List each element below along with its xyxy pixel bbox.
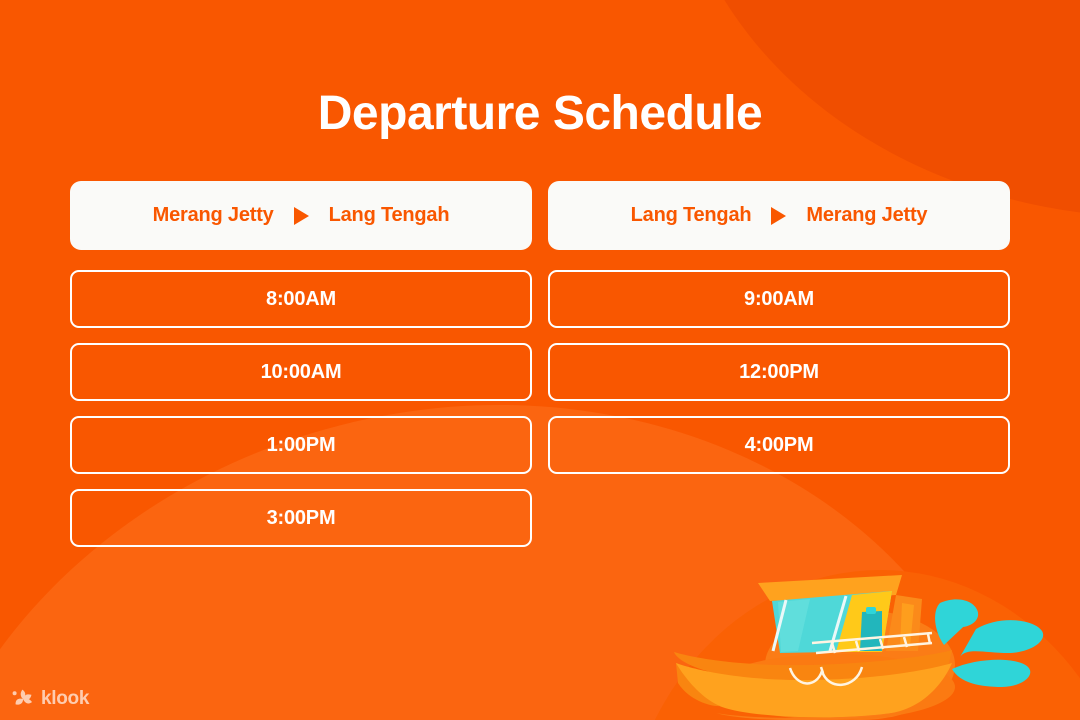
speedboat-illustration	[660, 555, 960, 720]
water-splash-icon	[930, 595, 1050, 700]
time-slot[interactable]: 4:00PM	[548, 416, 1010, 474]
time-slot[interactable]: 9:00AM	[548, 270, 1010, 328]
time-slot[interactable]: 10:00AM	[70, 343, 532, 401]
schedule-banner: Departure Schedule Merang Jetty Lang Ten…	[0, 0, 1080, 720]
schedule-column-outbound: Merang Jetty Lang Tengah 8:00AM 10:00AM …	[70, 181, 532, 547]
route-destination-label: Lang Tengah	[329, 204, 450, 227]
page-title: Departure Schedule	[0, 88, 1080, 141]
klook-logo: klook	[12, 688, 89, 710]
time-slot[interactable]: 3:00PM	[70, 489, 532, 547]
play-triangle-icon	[294, 207, 309, 225]
route-origin-label: Lang Tengah	[631, 204, 752, 227]
time-slot[interactable]: 12:00PM	[548, 343, 1010, 401]
route-header-outbound[interactable]: Merang Jetty Lang Tengah	[70, 181, 532, 250]
route-destination-label: Merang Jetty	[806, 204, 927, 227]
time-slot[interactable]: 8:00AM	[70, 270, 532, 328]
schedule-columns: Merang Jetty Lang Tengah 8:00AM 10:00AM …	[70, 181, 1010, 547]
time-slot[interactable]: 1:00PM	[70, 416, 532, 474]
route-origin-label: Merang Jetty	[153, 204, 274, 227]
play-triangle-icon	[771, 207, 786, 225]
route-header-return[interactable]: Lang Tengah Merang Jetty	[548, 181, 1010, 250]
klook-pinwheel-icon	[12, 688, 34, 710]
klook-wordmark: klook	[41, 688, 89, 710]
schedule-column-return: Lang Tengah Merang Jetty 9:00AM 12:00PM …	[548, 181, 1010, 547]
